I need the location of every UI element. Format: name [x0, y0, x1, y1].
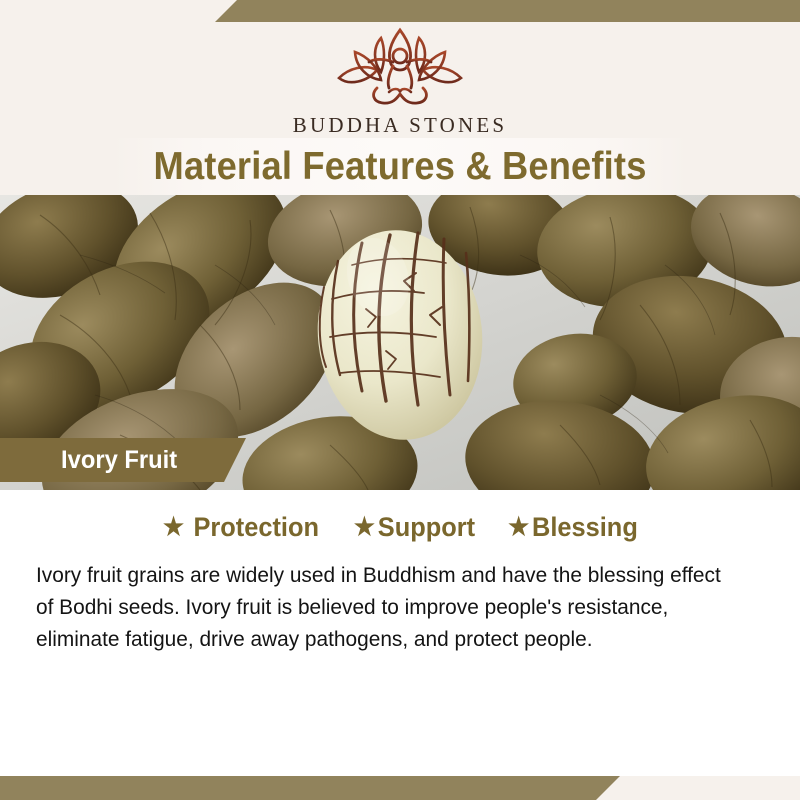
- page-title: Material Features & Benefits: [153, 145, 646, 189]
- benefit-item-protection: ★ Protection: [163, 512, 319, 543]
- benefit-label: Support: [377, 512, 474, 543]
- frame-band-top: [215, 0, 800, 22]
- product-photo: Ivory Fruit: [0, 195, 800, 490]
- photo-caption-label: Ivory Fruit: [61, 446, 177, 475]
- benefit-label: Blessing: [532, 512, 638, 543]
- benefit-item-support: ★ Support: [353, 512, 474, 543]
- brand-name: BUDDHA STONES: [293, 113, 508, 138]
- infographic-page: BUDDHA STONES Material Features & Benefi…: [0, 0, 800, 800]
- description-paragraph: Ivory fruit grains are widely used in Bu…: [36, 559, 742, 655]
- lotus-meditation-figure-icon: [325, 26, 475, 111]
- photo-caption-ribbon: Ivory Fruit: [0, 438, 246, 482]
- benefit-item-blessing: ★ Blessing: [509, 512, 639, 543]
- star-icon: ★: [509, 515, 530, 540]
- frame-band-bottom: [0, 776, 620, 800]
- star-icon: ★: [353, 515, 374, 540]
- benefit-label: Protection: [193, 512, 319, 543]
- content-panel: ★ Protection ★ Support ★ Blessing Ivory …: [0, 490, 800, 776]
- title-banner: Material Features & Benefits: [0, 138, 800, 195]
- star-icon: ★: [163, 515, 184, 540]
- brand-header: BUDDHA STONES: [0, 22, 800, 138]
- benefits-row: ★ Protection ★ Support ★ Blessing: [0, 490, 800, 543]
